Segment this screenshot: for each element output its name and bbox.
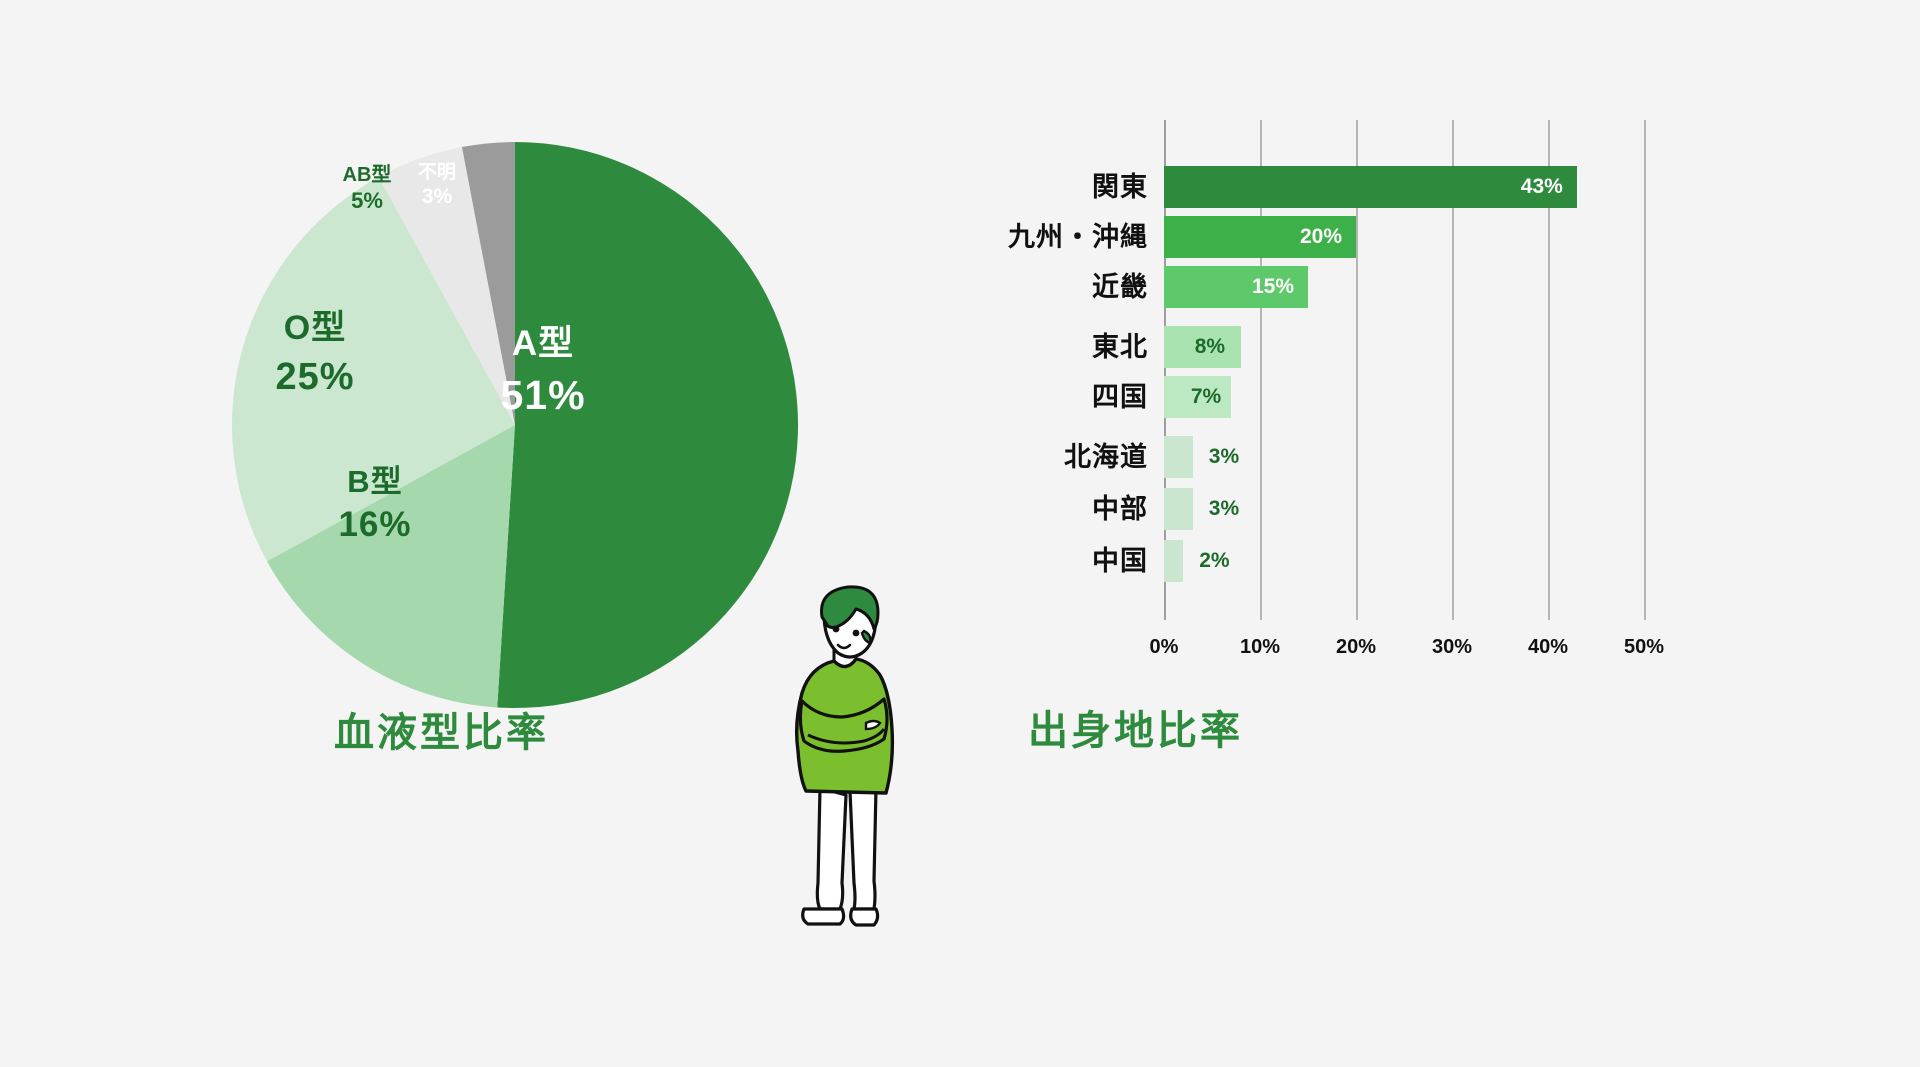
bar-chart-title: 出身地比率	[1028, 698, 1243, 756]
bar-row[interactable]: 関東43%	[1164, 166, 1644, 208]
pie-slice-1	[497, 142, 798, 708]
bar-row[interactable]: 北海道3%	[1164, 436, 1644, 478]
bar-plot-area: 0%10%20%30%40%50%関東43%九州・沖縄20%近畿15%東北8%四…	[1164, 120, 1644, 620]
blood-type-pie-chart: A型 51% O型 25% B型 16% AB型 5% 不明 3%	[225, 135, 805, 715]
bar-value-label: 2%	[1199, 540, 1229, 582]
x-axis-tick-10: 10%	[1240, 636, 1280, 659]
bar-rect[interactable]	[1164, 436, 1193, 478]
pie-svg	[225, 135, 805, 715]
bar-value-label: 7%	[1191, 376, 1221, 418]
x-axis-tick-0: 0%	[1150, 636, 1179, 659]
pie-chart-title: 血液型比率	[334, 700, 549, 758]
x-axis-tick-20: 20%	[1336, 636, 1376, 659]
bar-row[interactable]: 中部3%	[1164, 488, 1644, 530]
bar-category-label: 関東	[1092, 166, 1148, 208]
bar-row[interactable]: 中国2%	[1164, 540, 1644, 582]
bar-row[interactable]: 四国7%	[1164, 376, 1644, 418]
bar-category-label: 九州・沖縄	[1008, 216, 1148, 258]
hometown-bar-chart: 0%10%20%30%40%50%関東43%九州・沖縄20%近畿15%東北8%四…	[940, 110, 1500, 670]
bar-category-label: 近畿	[1092, 266, 1148, 308]
x-axis-tick-50: 50%	[1624, 636, 1664, 659]
bar-value-label: 20%	[1164, 216, 1356, 258]
bar-value-label: 43%	[1164, 166, 1577, 208]
gridline-50	[1644, 120, 1646, 620]
bar-rect[interactable]	[1164, 488, 1193, 530]
person-illustration	[778, 583, 928, 928]
bar-category-label: 四国	[1092, 376, 1148, 418]
bar-row[interactable]: 東北8%	[1164, 326, 1644, 368]
bar-value-label: 3%	[1209, 488, 1239, 530]
bar-category-label: 中部	[1092, 488, 1148, 530]
bar-rect[interactable]	[1164, 540, 1183, 582]
x-axis-tick-40: 40%	[1528, 636, 1568, 659]
bar-value-label: 8%	[1195, 326, 1225, 368]
bar-category-label: 東北	[1092, 326, 1148, 368]
bar-value-label: 3%	[1209, 436, 1239, 478]
bar-category-label: 北海道	[1064, 436, 1148, 478]
bar-category-label: 中国	[1092, 540, 1148, 582]
bar-row[interactable]: 近畿15%	[1164, 266, 1644, 308]
infographic-canvas: A型 51% O型 25% B型 16% AB型 5% 不明 3% 血液型比率	[0, 0, 1920, 1067]
x-axis-tick-30: 30%	[1432, 636, 1472, 659]
person-arms-crossed-icon	[778, 583, 928, 928]
bar-row[interactable]: 九州・沖縄20%	[1164, 216, 1644, 258]
bar-value-label: 15%	[1164, 266, 1308, 308]
